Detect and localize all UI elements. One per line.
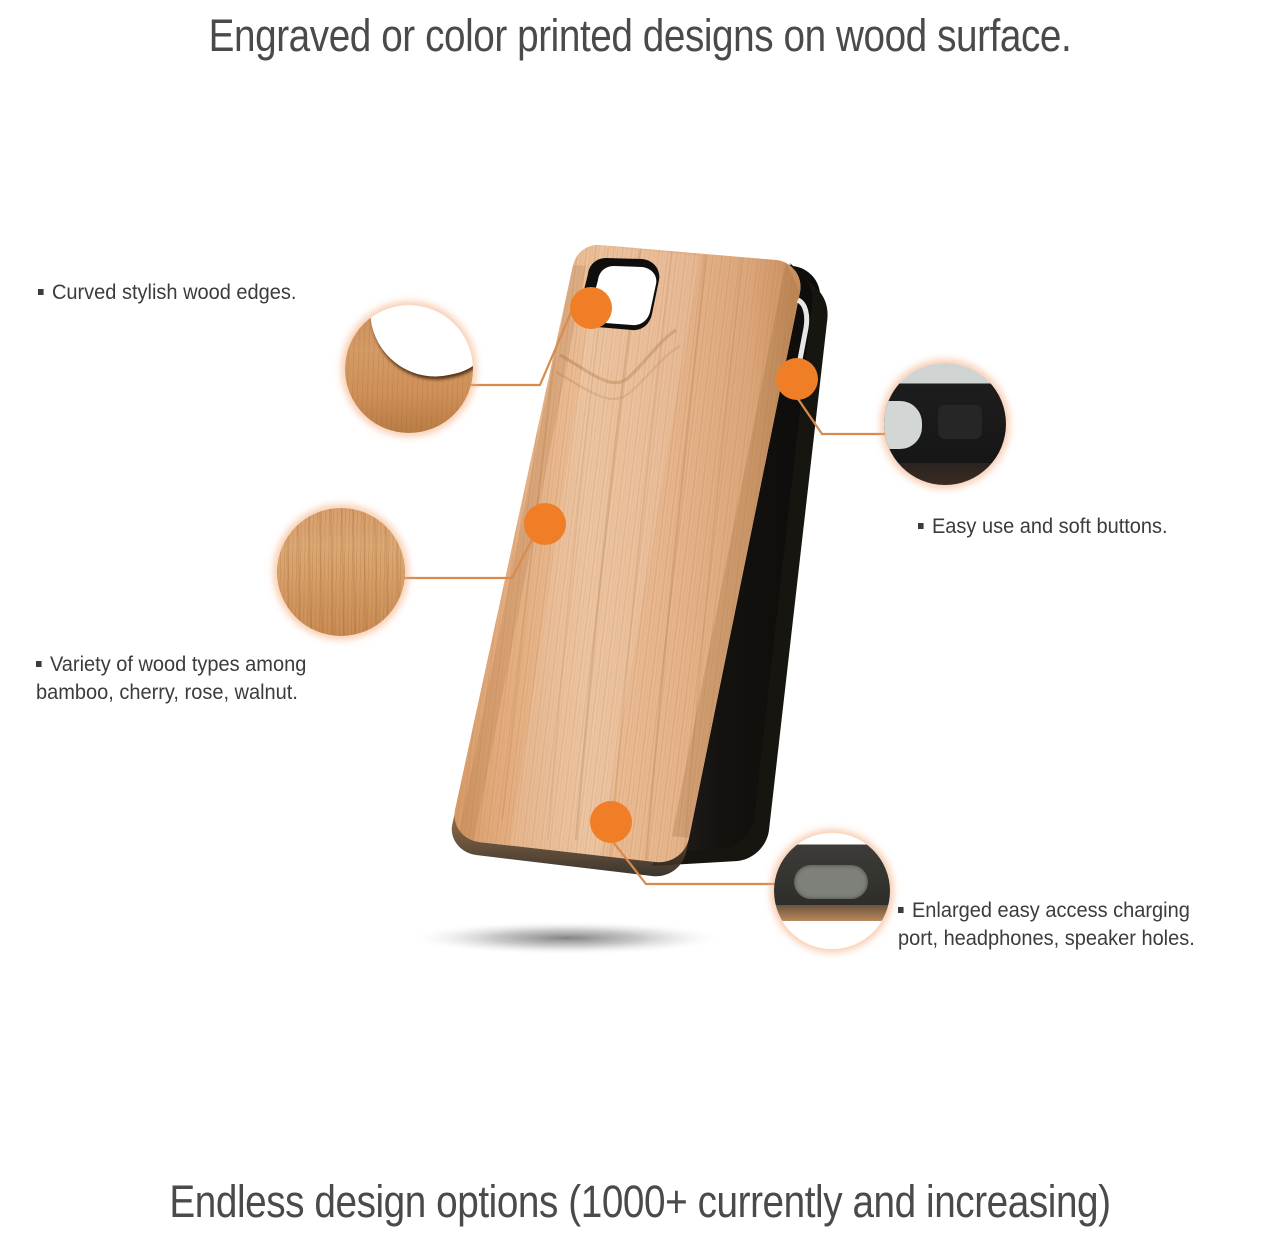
- callout-label-port: Enlarged easy access charging port, head…: [898, 896, 1251, 952]
- detail-circle-charging-port: [774, 833, 890, 949]
- detail-circle-curved-wood-edge: [345, 305, 473, 433]
- hotspot-dot-edges[interactable]: [570, 287, 612, 329]
- callout-label-buttons: Easy use and soft buttons.: [918, 512, 1234, 540]
- soft-button-shape: [884, 401, 922, 449]
- product-illustration: [0, 0, 1280, 1249]
- callout-label-edges: Curved stylish wood edges.: [38, 278, 429, 306]
- case-drop-shadow: [407, 921, 727, 955]
- wood-edge-highlight: [359, 305, 473, 389]
- callout-text-edges-line1: Curved stylish wood edges.: [52, 280, 297, 304]
- page-title-bottom: Endless design options (1000+ currently …: [90, 1176, 1191, 1228]
- callout-text-port-line2: port, headphones, speaker holes.: [898, 924, 1251, 952]
- square-bullet-icon: [38, 289, 44, 295]
- hotspot-dot-buttons[interactable]: [776, 358, 818, 400]
- callout-label-wood-types: Variety of wood types among bamboo, cher…: [36, 650, 436, 706]
- square-bullet-icon: [918, 523, 924, 529]
- callout-text-port-line1: Enlarged easy access charging: [912, 898, 1190, 922]
- callout-text-wood-line2: bamboo, cherry, rose, walnut.: [36, 678, 436, 706]
- hotspot-dot-wood-types[interactable]: [524, 503, 566, 545]
- callout-text-wood-line1: Variety of wood types among: [50, 652, 306, 676]
- detail-circle-soft-buttons: [884, 363, 1006, 485]
- hotspot-dot-port[interactable]: [590, 801, 632, 843]
- square-bullet-icon: [36, 661, 42, 667]
- charging-port-cutout: [794, 865, 868, 899]
- detail-circle-wood-grain-sample: [277, 508, 405, 636]
- callout-text-buttons-line1: Easy use and soft buttons.: [932, 514, 1168, 538]
- soft-button-recess: [938, 405, 982, 439]
- square-bullet-icon: [898, 907, 904, 913]
